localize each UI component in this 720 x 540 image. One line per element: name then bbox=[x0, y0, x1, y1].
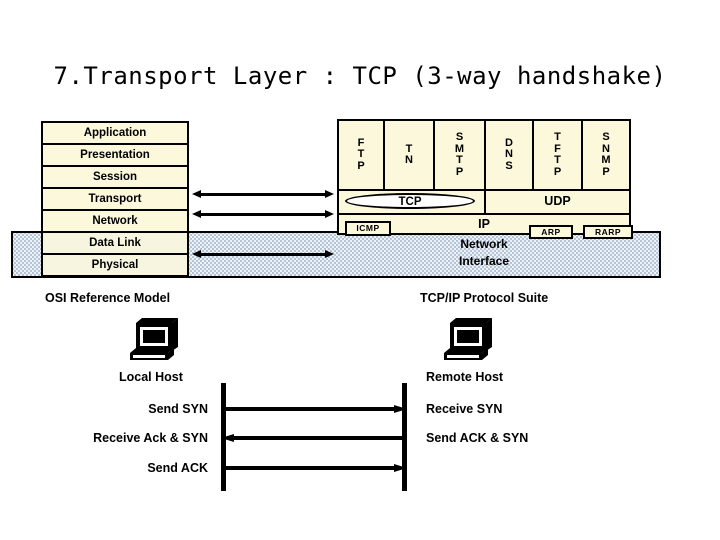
protocol-letter: S bbox=[456, 132, 463, 144]
label-remote-host: Remote Host bbox=[426, 370, 503, 384]
protocol-letter: T bbox=[554, 155, 561, 167]
arrow-shaft bbox=[200, 213, 326, 216]
arrow-head-right-icon bbox=[325, 250, 334, 258]
protocol-box-tftp[interactable]: T F T P bbox=[534, 121, 583, 189]
udp-cell[interactable]: UDP bbox=[486, 191, 629, 213]
transport-protocol-row: TCP UDP bbox=[337, 189, 631, 213]
protocol-box-snmp[interactable]: S N M P bbox=[583, 121, 629, 189]
protocol-letter: M bbox=[601, 155, 610, 167]
osi-layer-physical[interactable]: Physical bbox=[43, 255, 187, 277]
handshake-label-send-ack-syn: Send ACK & SYN bbox=[426, 431, 528, 445]
label-local-host: Local Host bbox=[119, 370, 183, 384]
protocol-box-tn[interactable]: T N bbox=[385, 121, 435, 189]
tcpip-protocol-stack: F T P T N S M T P D N S T F T P S N M bbox=[337, 119, 631, 235]
protocol-box-smtp[interactable]: S M T P bbox=[435, 121, 486, 189]
arrow-head-left-icon bbox=[221, 434, 234, 442]
protocol-box-ftp[interactable]: F T P bbox=[339, 121, 385, 189]
network-interface-label: Network Interface bbox=[337, 236, 631, 270]
protocol-letter: T bbox=[554, 132, 561, 144]
protocol-letter: P bbox=[357, 161, 364, 173]
arrow-shaft bbox=[221, 466, 395, 470]
handshake-arrow-send-ack bbox=[221, 464, 407, 472]
arrow-head-right-icon bbox=[325, 190, 334, 198]
arrow-shaft bbox=[221, 407, 395, 411]
protocol-letter: N bbox=[405, 155, 413, 167]
caption-osi-reference-model: OSI Reference Model bbox=[45, 291, 170, 305]
protocol-letter: S bbox=[505, 161, 512, 173]
arrow-shaft bbox=[200, 253, 326, 256]
osi-layer-table: Application Presentation Session Transpo… bbox=[41, 121, 189, 277]
osi-layer-network[interactable]: Network bbox=[43, 211, 187, 233]
page-title: 7.Transport Layer : TCP (3-way handshake… bbox=[0, 62, 720, 90]
handshake-label-send-ack: Send ACK bbox=[28, 461, 208, 475]
arrow-head-right-icon bbox=[325, 210, 334, 218]
computer-icon bbox=[442, 317, 498, 363]
tcp-cell: TCP bbox=[339, 191, 486, 213]
network-interface-line2: Interface bbox=[337, 253, 631, 270]
protocol-box-dns[interactable]: D N S bbox=[486, 121, 534, 189]
internet-protocol-row: IP ICMP ARP RARP bbox=[337, 213, 631, 235]
protocol-box-icmp[interactable]: ICMP bbox=[345, 221, 391, 236]
mapping-arrow-network bbox=[192, 210, 334, 219]
protocol-letter: P bbox=[554, 167, 561, 179]
handshake-label-send-syn: Send SYN bbox=[28, 402, 208, 416]
osi-layer-presentation[interactable]: Presentation bbox=[43, 145, 187, 167]
mapping-arrow-network-interface bbox=[192, 250, 334, 259]
network-interface-line1: Network bbox=[337, 236, 631, 253]
osi-layer-transport[interactable]: Transport bbox=[43, 189, 187, 211]
tcp-highlight-ellipse[interactable]: TCP bbox=[345, 193, 475, 209]
protocol-letter: S bbox=[602, 132, 609, 144]
handshake-label-receive-syn: Receive SYN bbox=[426, 402, 502, 416]
protocol-letter: P bbox=[602, 167, 609, 179]
mapping-arrow-transport bbox=[192, 190, 334, 199]
osi-layer-application[interactable]: Application bbox=[43, 123, 187, 145]
handshake-label-receive-ack-syn: Receive Ack & SYN bbox=[28, 431, 208, 445]
computer-icon bbox=[128, 317, 184, 363]
handshake-arrow-ack-syn bbox=[221, 434, 407, 442]
caption-tcpip-protocol-suite: TCP/IP Protocol Suite bbox=[420, 291, 548, 305]
osi-layer-data-link[interactable]: Data Link bbox=[43, 233, 187, 255]
protocol-letter: T bbox=[456, 155, 463, 167]
osi-layer-session[interactable]: Session bbox=[43, 167, 187, 189]
protocol-letter: P bbox=[456, 167, 463, 179]
arrow-head-right-icon bbox=[394, 405, 407, 413]
handshake-arrow-send-syn bbox=[221, 405, 407, 413]
arrow-shaft bbox=[200, 193, 326, 196]
application-protocol-row: F T P T N S M T P D N S T F T P S N M bbox=[337, 119, 631, 189]
arrow-head-right-icon bbox=[394, 464, 407, 472]
arrow-shaft bbox=[233, 436, 407, 440]
